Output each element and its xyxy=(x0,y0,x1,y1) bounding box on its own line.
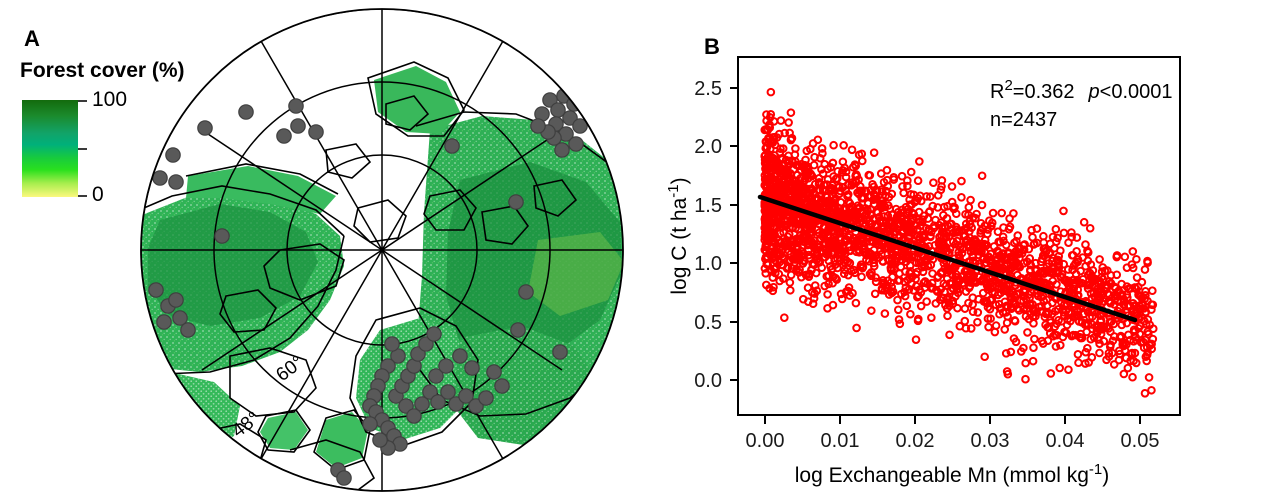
scatter-point xyxy=(908,280,915,287)
scatter-point xyxy=(966,204,973,211)
scatter-point xyxy=(993,322,1000,329)
y-axis-title-sup: -1 xyxy=(665,184,682,197)
y-tick-0-5: 0.5 xyxy=(694,312,722,334)
scatter-point xyxy=(895,307,902,314)
scatter-point xyxy=(950,204,957,211)
scatter-point xyxy=(979,172,986,179)
scatter-point xyxy=(818,264,825,271)
scatter-point xyxy=(998,210,1005,217)
forest-cover-colorbar: 100 0 xyxy=(22,100,142,200)
y-axis-title-main: log C (t ha xyxy=(668,197,691,294)
scatter-point xyxy=(1030,344,1037,351)
scatter-point xyxy=(788,109,795,116)
scatter-point xyxy=(1150,336,1157,343)
scatter-point xyxy=(1149,287,1156,294)
scatter-point xyxy=(1125,365,1132,372)
scatter-point xyxy=(1027,267,1034,274)
scatter-point xyxy=(974,319,981,326)
scatter-point xyxy=(845,191,852,198)
scatter-point xyxy=(770,239,777,246)
scatter-point xyxy=(840,142,847,149)
scatter-point xyxy=(965,300,972,307)
scatter-point xyxy=(1075,351,1082,358)
scatter-point xyxy=(1123,320,1130,327)
scatter-point xyxy=(1031,336,1038,343)
panel-b-scatter: B 2.5 2.0 xyxy=(660,0,1270,497)
panel-a-map: A Forest cover (%) xyxy=(0,0,660,497)
scatter-point xyxy=(1075,359,1082,366)
scatter-point xyxy=(985,226,992,233)
scatter-point xyxy=(900,190,907,197)
scatter-point xyxy=(1053,226,1060,233)
scatter-point xyxy=(1142,266,1149,273)
x-ticks xyxy=(765,415,1140,424)
scatter-point xyxy=(878,170,885,177)
scatter-point xyxy=(944,275,951,282)
stats-r2-sup: 2 xyxy=(1004,77,1012,94)
scatter-point xyxy=(1065,239,1072,246)
scatter-point xyxy=(941,289,948,296)
scatter-point xyxy=(792,145,799,152)
scatter-plot: 2.5 2.0 1.5 1.0 0.5 0.0 0.00 xyxy=(660,0,1270,497)
scatter-point xyxy=(925,215,932,222)
y-tick-1-5: 1.5 xyxy=(694,195,722,217)
scatter-point xyxy=(915,177,922,184)
scatter-point xyxy=(1114,252,1121,259)
scatter-point xyxy=(1032,260,1039,267)
scatter-point xyxy=(1056,365,1063,372)
scatter-point xyxy=(908,169,915,176)
arctic-map: 60° 48° xyxy=(130,0,650,497)
scatter-point xyxy=(771,118,778,125)
colorbar-label-min: 0 xyxy=(92,184,104,205)
scatter-point xyxy=(1125,302,1132,309)
scatter-point xyxy=(858,274,865,281)
scatter-point xyxy=(1024,329,1031,336)
scatter-point xyxy=(788,272,795,279)
scatter-point xyxy=(1047,241,1054,248)
scatter-point xyxy=(990,210,997,217)
scatter-point xyxy=(1012,318,1019,325)
stats-p-value: <0.0001 xyxy=(1100,81,1173,103)
x-tick-0-03: 0.03 xyxy=(971,430,1010,452)
scatter-point xyxy=(955,276,962,283)
scatter-point xyxy=(1150,325,1157,332)
scatter-point xyxy=(958,178,965,185)
scatter-point xyxy=(1063,330,1070,337)
scatter-point xyxy=(889,274,896,281)
scatter-point xyxy=(830,142,837,149)
scatter-point xyxy=(816,221,823,228)
scatter-point xyxy=(1108,272,1115,279)
scatter-point xyxy=(882,310,889,317)
scatter-point xyxy=(890,176,897,183)
scatter-point xyxy=(1129,374,1136,381)
scatter-point xyxy=(762,265,769,272)
scatter-point xyxy=(812,282,819,289)
scatter-point xyxy=(794,245,801,252)
x-tick-0-01: 0.01 xyxy=(821,430,860,452)
scatter-point xyxy=(845,198,852,205)
y-axis-title-tail: ) xyxy=(668,177,691,184)
scatter-point xyxy=(872,291,879,298)
scatter-point xyxy=(805,298,812,305)
scatter-point xyxy=(824,291,831,298)
scatter-point xyxy=(958,194,965,201)
scatter-point xyxy=(822,193,829,200)
scatter-point xyxy=(815,136,822,143)
scatter-point xyxy=(970,308,977,315)
scatter-point xyxy=(768,89,775,96)
scatter-point xyxy=(913,336,920,343)
scatter-point xyxy=(1057,342,1064,349)
scatter-point xyxy=(1150,301,1157,308)
scatter-point xyxy=(787,287,794,294)
scatter-point xyxy=(1030,358,1037,365)
scatter-point xyxy=(1098,317,1105,324)
y-tick-1-0: 1.0 xyxy=(694,253,722,275)
scatter-point xyxy=(1111,361,1118,368)
scatter-point xyxy=(1070,252,1077,259)
stats-r2-prefix: R xyxy=(990,81,1004,103)
scatter-point xyxy=(1142,390,1149,397)
scatter-point xyxy=(1122,254,1129,261)
scatter-point xyxy=(963,288,970,295)
scatter-point xyxy=(904,177,911,184)
y-tick-2-5: 2.5 xyxy=(694,78,722,100)
scatter-point xyxy=(1010,210,1017,217)
scatter-point xyxy=(944,313,951,320)
y-tick-2-0: 2.0 xyxy=(694,136,722,158)
scatter-point xyxy=(907,311,914,318)
scatter-point xyxy=(787,279,794,286)
scatter-point xyxy=(789,135,796,142)
scatter-point xyxy=(1060,208,1067,215)
scatter-point xyxy=(1131,326,1138,333)
scatter-point xyxy=(871,149,878,156)
scatter-point xyxy=(859,158,866,165)
scatter-point xyxy=(949,183,956,190)
scatter-point xyxy=(825,176,832,183)
scatter-point xyxy=(1028,227,1035,234)
y-ticks xyxy=(730,88,738,380)
scatter-svg: 2.5 2.0 1.5 1.0 0.5 0.0 0.00 xyxy=(660,0,1270,497)
scatter-point xyxy=(967,197,974,204)
scatter-point xyxy=(981,353,988,360)
scatter-point xyxy=(1022,376,1029,383)
scatter-point xyxy=(1087,225,1094,232)
stats-p-italic: p xyxy=(1088,81,1100,103)
scatter-point xyxy=(985,324,992,331)
scatter-point xyxy=(962,318,969,325)
colorbar-label-max: 100 xyxy=(92,89,127,110)
stats-line-1: R2=0.362p<0.0001 xyxy=(990,77,1173,103)
scatter-point xyxy=(817,155,824,162)
scatter-point xyxy=(1146,374,1153,381)
x-tick-0-02: 0.02 xyxy=(896,430,935,452)
scatter-point xyxy=(813,270,820,277)
scatter-point xyxy=(923,298,930,305)
panel-a-letter: A xyxy=(24,28,40,50)
map-svg: 60° 48° xyxy=(130,0,650,497)
colorbar-tick-min xyxy=(78,195,87,197)
scatter-points-group xyxy=(761,89,1156,397)
x-tick-labels: 0.00 0.01 0.02 0.03 0.04 0.05 xyxy=(746,430,1160,452)
scatter-point xyxy=(1081,219,1088,226)
y-tick-0-0: 0.0 xyxy=(694,370,722,392)
scatter-point xyxy=(1081,311,1088,318)
scatter-point xyxy=(830,160,837,167)
x-tick-0-04: 0.04 xyxy=(1046,430,1085,452)
scatter-point xyxy=(1001,326,1008,333)
scatter-point xyxy=(1008,349,1015,356)
scatter-point xyxy=(1111,333,1118,340)
x-axis-title-sup: -1 xyxy=(1089,461,1102,478)
scatter-point xyxy=(781,314,788,321)
scatter-point xyxy=(1077,268,1084,275)
scatter-point xyxy=(916,158,923,165)
scatter-point xyxy=(1134,274,1141,281)
colorbar-tick-max xyxy=(78,100,87,102)
scatter-point xyxy=(1065,366,1072,373)
scatter-point xyxy=(1088,261,1095,268)
scatter-point xyxy=(896,277,903,284)
scatter-point xyxy=(867,172,874,179)
scatter-point xyxy=(946,332,953,339)
colorbar-gradient xyxy=(22,100,78,197)
x-axis-title-tail: ) xyxy=(1102,464,1109,487)
scatter-point xyxy=(928,314,935,321)
scatter-point xyxy=(785,119,792,126)
scatter-point xyxy=(1082,241,1089,248)
y-axis-title: log C (t ha-1) xyxy=(665,177,691,294)
scatter-point xyxy=(904,303,911,310)
scatter-point xyxy=(853,300,860,307)
scatter-point xyxy=(968,325,975,332)
stats-line-2: n=2437 xyxy=(990,109,1057,131)
scatter-point xyxy=(778,117,785,124)
scatter-point xyxy=(979,202,986,209)
scatter-point xyxy=(843,174,850,181)
scatter-point xyxy=(780,275,787,282)
figure-root: A Forest cover (%) xyxy=(0,0,1270,497)
scatter-point xyxy=(929,270,936,277)
scatter-point xyxy=(763,282,770,289)
scatter-point xyxy=(995,238,1002,245)
x-tick-0-05: 0.05 xyxy=(1121,430,1160,452)
scatter-point xyxy=(824,305,831,312)
scatter-point xyxy=(1096,256,1103,263)
scatter-point xyxy=(868,307,875,314)
scatter-point xyxy=(926,208,933,215)
map-content: 60° 48° xyxy=(130,0,650,497)
y-tick-labels: 2.5 2.0 1.5 1.0 0.5 0.0 xyxy=(694,78,722,392)
scatter-point xyxy=(821,283,828,290)
scatter-point xyxy=(1144,258,1151,265)
scatter-point xyxy=(1130,248,1137,255)
scatter-point xyxy=(896,316,903,323)
scatter-point xyxy=(930,179,937,186)
scatter-point xyxy=(1061,230,1068,237)
scatter-point xyxy=(1048,370,1055,377)
scatter-point xyxy=(853,325,860,332)
scatter-point xyxy=(849,147,856,154)
x-axis-title: log Exchangeable Mn (mmol kg-1) xyxy=(795,461,1110,487)
colorbar-tick-mid xyxy=(78,148,87,150)
scatter-point xyxy=(1022,360,1029,367)
scatter-point xyxy=(1096,350,1103,357)
scatter-point xyxy=(915,316,922,323)
scatter-point xyxy=(884,183,891,190)
scatter-point xyxy=(1123,355,1130,362)
stats-r2-value: =0.362 xyxy=(1013,81,1075,103)
scatter-point xyxy=(898,264,905,271)
x-axis-title-main: log Exchangeable Mn (mmol kg xyxy=(795,464,1089,487)
x-tick-0-00: 0.00 xyxy=(746,430,785,452)
scatter-point xyxy=(1020,242,1027,249)
